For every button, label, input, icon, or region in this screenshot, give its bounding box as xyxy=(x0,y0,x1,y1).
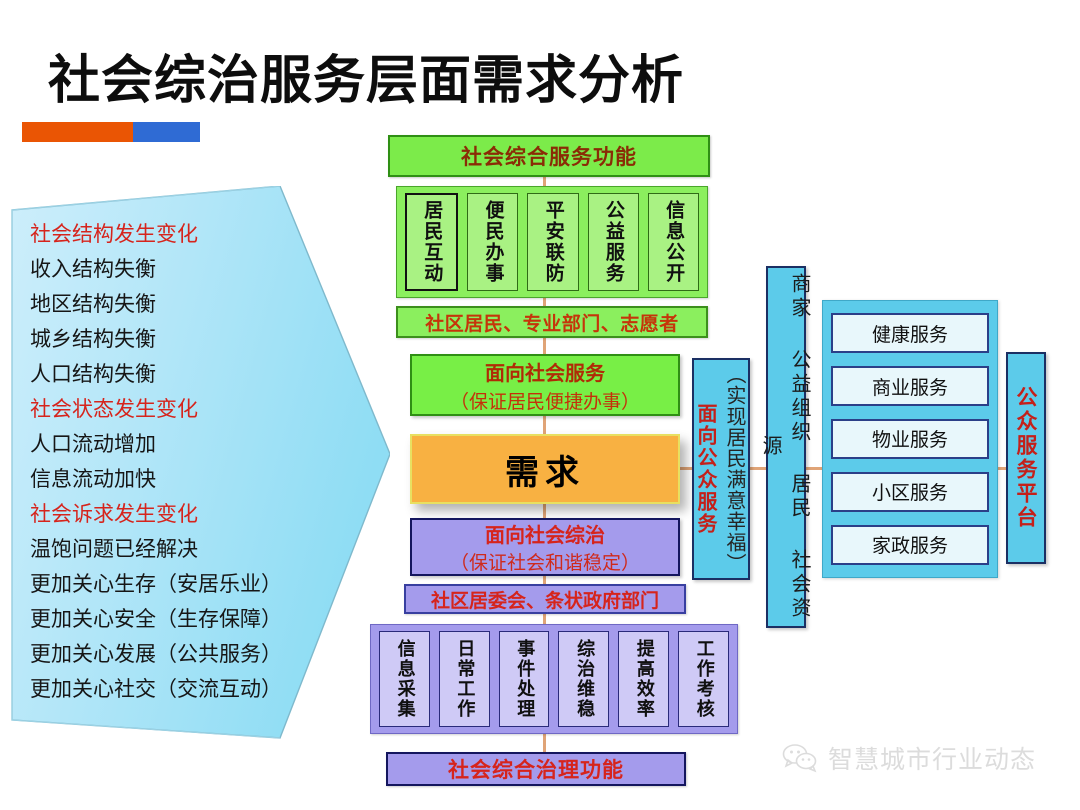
green-function-1[interactable]: 便民办事 xyxy=(467,193,518,291)
purple-function-4[interactable]: 提高效率 xyxy=(618,631,669,727)
green-service-subtitle: （保证居民便捷办事） xyxy=(450,387,640,414)
public-service-item-3[interactable]: 小区服务 xyxy=(831,472,989,512)
arrow-line-0: 社会结构发生变化 xyxy=(30,218,292,251)
purple-function-5[interactable]: 工作考核 xyxy=(678,631,729,727)
public-service-subtitle: （实现居民满意幸福） xyxy=(721,364,750,574)
green-function-0[interactable]: 居民互动 xyxy=(405,193,458,291)
purple-service-box: 面向社会综治 （保证社会和谐稳定） xyxy=(410,518,680,576)
green-functions-strip: 居民互动 便民办事 平安联防 公益服务 信息公开 xyxy=(396,186,708,298)
purple-footer-box: 社会综合治理功能 xyxy=(386,752,686,786)
connector-strip-to-footer xyxy=(543,734,546,754)
arrow-line-1: 收入结构失衡 xyxy=(30,253,292,286)
arrow-line-5: 社会状态发生变化 xyxy=(30,393,292,426)
wechat-icon xyxy=(782,743,818,773)
purple-function-2[interactable]: 事件处理 xyxy=(499,631,550,727)
public-service-item-1[interactable]: 商业服务 xyxy=(831,366,989,406)
purple-function-1[interactable]: 日常工作 xyxy=(439,631,490,727)
arrow-line-10: 更加关心生存（安居乐业） xyxy=(30,568,292,601)
purple-service-title: 面向社会综治 xyxy=(485,519,605,548)
purple-function-0[interactable]: 信息采集 xyxy=(379,631,430,727)
public-service-item-2[interactable]: 物业服务 xyxy=(831,419,989,459)
green-service-box: 面向社会服务 （保证居民便捷办事） xyxy=(410,354,680,416)
public-service-item-0[interactable]: 健康服务 xyxy=(831,313,989,353)
arrow-line-7: 信息流动加快 xyxy=(30,463,292,496)
watermark: 智慧城市行业动态 xyxy=(782,740,1036,776)
green-function-2[interactable]: 平安联防 xyxy=(527,193,578,291)
purple-functions-strip: 信息采集 日常工作 事件处理 综治维稳 提高效率 工作考核 xyxy=(370,624,738,734)
arrow-line-6: 人口流动增加 xyxy=(30,428,292,461)
green-function-3[interactable]: 公益服务 xyxy=(588,193,639,291)
public-service-box: 面向公众服务 （实现居民满意幸福） xyxy=(692,358,750,580)
public-actors-box: 商家 公益组织 居民 社会资源 xyxy=(766,266,806,628)
public-service-item-4[interactable]: 家政服务 xyxy=(831,525,989,565)
arrow-line-3: 城乡结构失衡 xyxy=(30,323,292,356)
purple-service-subtitle: （保证社会和谐稳定） xyxy=(450,548,640,575)
watermark-label: 智慧城市行业动态 xyxy=(828,740,1036,776)
page-title: 社会综治服务层面需求分析 xyxy=(48,38,684,113)
green-header-box: 社会综合服务功能 xyxy=(388,135,710,177)
left-arrow-panel: 社会结构发生变化 收入结构失衡 地区结构失衡 城乡结构失衡 人口结构失衡 社会状… xyxy=(0,186,390,742)
green-function-4[interactable]: 信息公开 xyxy=(648,193,699,291)
green-service-title: 面向社会服务 xyxy=(485,357,605,386)
connector-service-to-core xyxy=(543,416,546,436)
public-services-list: 健康服务 商业服务 物业服务 小区服务 家政服务 xyxy=(822,300,998,578)
arrow-line-12: 更加关心发展（公共服务） xyxy=(30,638,292,671)
accent-bar-blue-segment xyxy=(133,122,200,142)
arrow-line-4: 人口结构失衡 xyxy=(30,358,292,391)
public-platform-box: 公众服务平台 xyxy=(1006,352,1046,564)
arrow-line-11: 更加关心安全（生存保障） xyxy=(30,603,292,636)
arrow-text-list: 社会结构发生变化 收入结构失衡 地区结构失衡 城乡结构失衡 人口结构失衡 社会状… xyxy=(30,218,292,706)
slide-canvas: 社会综治服务层面需求分析 社会结构发生变化 收入结构失衡 地区结构失衡 城乡结构… xyxy=(0,0,1080,810)
public-service-title: 面向公众服务 xyxy=(692,403,721,535)
arrow-line-8: 社会诉求发生变化 xyxy=(30,498,292,531)
accent-bar xyxy=(22,122,200,142)
core-demand-box: 需求 xyxy=(410,434,680,504)
arrow-line-2: 地区结构失衡 xyxy=(30,288,292,321)
purple-function-3[interactable]: 综治维稳 xyxy=(558,631,609,727)
arrow-line-9: 温饱问题已经解决 xyxy=(30,533,292,566)
accent-bar-orange-segment xyxy=(22,122,133,142)
arrow-line-13: 更加关心社交（交流互动） xyxy=(30,673,292,706)
green-actors-band: 社区居民、专业部门、志愿者 xyxy=(396,306,708,338)
purple-actors-band: 社区居委会、条状政府部门 xyxy=(404,584,686,614)
